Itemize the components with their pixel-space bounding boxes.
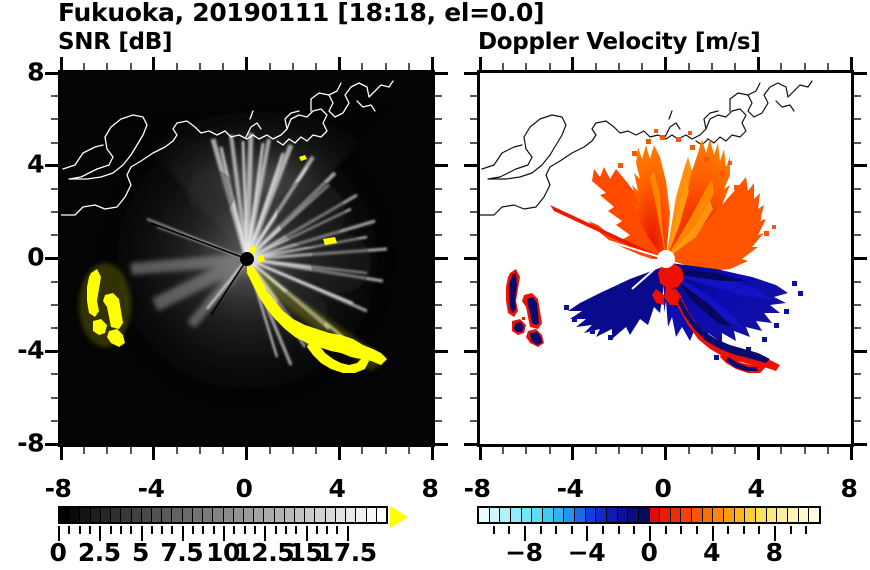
colorbar-minor-tick bbox=[213, 526, 215, 534]
colorbar-swatch bbox=[692, 508, 703, 522]
colorbar-minor-tick bbox=[618, 526, 620, 534]
minor-tick bbox=[106, 447, 108, 454]
colorbar-swatch bbox=[356, 508, 366, 522]
radar-figure: Fukuoka, 20190111 [18:18, el=0.0] SNR [d… bbox=[0, 0, 870, 570]
colorbar-minor-tick bbox=[696, 526, 698, 534]
minor-tick bbox=[435, 304, 442, 306]
doppler-x-tick-top bbox=[664, 57, 667, 70]
doppler-x-label: 0 bbox=[655, 474, 672, 503]
colorbar-tick-label: 0 bbox=[50, 538, 67, 567]
snr-x-tick-top bbox=[431, 57, 434, 70]
snr-y-tick-right bbox=[435, 443, 448, 446]
colorbar-minor-tick bbox=[805, 526, 807, 534]
minor-tick bbox=[435, 188, 442, 190]
colorbar-tick-label: 5 bbox=[132, 538, 149, 567]
snr-panel-title: SNR [dB] bbox=[58, 29, 172, 55]
doppler-plot-canvas bbox=[480, 73, 851, 444]
minor-tick bbox=[385, 63, 387, 70]
doppler-y-tick-right bbox=[854, 72, 867, 75]
snr-x-tick-top bbox=[60, 57, 63, 70]
colorbar-swatch bbox=[377, 508, 386, 522]
snr-colorbar[interactable] bbox=[58, 506, 388, 524]
minor-tick bbox=[470, 211, 477, 213]
minor-tick bbox=[51, 420, 58, 422]
minor-tick bbox=[470, 142, 477, 144]
minor-tick bbox=[804, 447, 806, 454]
snr-y-tick-right bbox=[435, 257, 448, 260]
minor-tick bbox=[435, 281, 442, 283]
colorbar-tick-label: −4 bbox=[568, 538, 605, 567]
minor-tick bbox=[106, 63, 108, 70]
colorbar-swatch bbox=[275, 508, 285, 522]
colorbar-swatch bbox=[618, 508, 629, 522]
minor-tick bbox=[618, 63, 620, 70]
minor-tick bbox=[780, 447, 782, 454]
minor-tick bbox=[854, 397, 861, 399]
snr-y-tick-major bbox=[45, 72, 58, 75]
figure-title: Fukuoka, 20190111 [18:18, el=0.0] bbox=[58, 0, 544, 27]
colorbar-swatch bbox=[367, 508, 377, 522]
colorbar-tick-label: 17.5 bbox=[317, 538, 377, 567]
colorbar-minor-tick bbox=[508, 526, 510, 534]
colorbar-swatch bbox=[91, 508, 101, 522]
colorbar-minor-tick bbox=[120, 526, 122, 534]
doppler-x-tick-major bbox=[850, 447, 853, 460]
snr-y-tick-major bbox=[45, 443, 58, 446]
doppler-y-tick-major bbox=[464, 443, 477, 446]
minor-tick bbox=[854, 188, 861, 190]
minor-tick bbox=[854, 327, 861, 329]
minor-tick bbox=[51, 118, 58, 120]
snr-y-tick-right bbox=[435, 164, 448, 167]
colorbar-minor-tick bbox=[110, 526, 112, 534]
colorbar-minor-tick bbox=[161, 526, 163, 534]
colorbar-minor-tick bbox=[743, 526, 745, 534]
colorbar-swatch bbox=[767, 508, 778, 522]
doppler-x-tick-major bbox=[664, 447, 667, 460]
minor-tick bbox=[83, 63, 85, 70]
colorbar-swatch bbox=[788, 508, 799, 522]
minor-tick bbox=[641, 63, 643, 70]
colorbar-minor-tick bbox=[571, 526, 573, 534]
minor-tick bbox=[854, 234, 861, 236]
minor-tick bbox=[734, 447, 736, 454]
minor-tick bbox=[470, 420, 477, 422]
colorbar-swatch bbox=[809, 508, 819, 522]
snr-x-label: -4 bbox=[138, 474, 165, 503]
minor-tick bbox=[51, 327, 58, 329]
doppler-radar-image bbox=[480, 73, 851, 444]
doppler-y-tick-right bbox=[854, 443, 867, 446]
colorbar-swatch bbox=[703, 508, 714, 522]
colorbar-minor-tick bbox=[336, 526, 338, 534]
minor-tick bbox=[385, 447, 387, 454]
minor-tick bbox=[470, 118, 477, 120]
colorbar-swatch bbox=[479, 508, 490, 522]
doppler-y-tick-major bbox=[464, 72, 477, 75]
snr-colorbar-over-arrow bbox=[390, 506, 408, 528]
snr-x-tick-major bbox=[338, 447, 341, 460]
minor-tick bbox=[688, 447, 690, 454]
colorbar-swatch bbox=[745, 508, 756, 522]
colorbar-swatch bbox=[172, 508, 182, 522]
colorbar-swatch bbox=[213, 508, 223, 522]
colorbar-swatch bbox=[511, 508, 522, 522]
colorbar-swatch bbox=[596, 508, 607, 522]
minor-tick bbox=[292, 63, 294, 70]
minor-tick bbox=[435, 327, 442, 329]
doppler-x-label: -4 bbox=[557, 474, 584, 503]
minor-tick bbox=[734, 63, 736, 70]
doppler-y-tick-right bbox=[854, 257, 867, 260]
minor-tick bbox=[176, 63, 178, 70]
snr-x-tick-major bbox=[60, 447, 63, 460]
minor-tick bbox=[199, 447, 201, 454]
colorbar-swatch bbox=[315, 508, 325, 522]
minor-tick bbox=[470, 188, 477, 190]
minor-tick bbox=[688, 63, 690, 70]
minor-tick bbox=[470, 281, 477, 283]
minor-tick bbox=[435, 211, 442, 213]
colorbar-minor-tick bbox=[275, 526, 277, 534]
minor-tick bbox=[470, 327, 477, 329]
colorbar-minor-tick bbox=[680, 526, 682, 534]
minor-tick bbox=[361, 63, 363, 70]
colorbar-tick-label: 7.5 bbox=[160, 538, 203, 567]
doppler-colorbar[interactable] bbox=[477, 506, 821, 524]
snr-x-tick-top bbox=[338, 57, 341, 70]
colorbar-minor-tick bbox=[493, 526, 495, 534]
doppler-colorbar-under-arrow bbox=[459, 506, 477, 528]
colorbar-minor-tick bbox=[602, 526, 604, 534]
colorbar-swatch bbox=[132, 508, 142, 522]
minor-tick bbox=[804, 63, 806, 70]
snr-y-label: 0 bbox=[8, 243, 44, 272]
minor-tick bbox=[361, 447, 363, 454]
snr-x-label: -8 bbox=[45, 474, 72, 503]
colorbar-swatch bbox=[532, 508, 543, 522]
colorbar-minor-tick bbox=[171, 526, 173, 534]
minor-tick bbox=[780, 63, 782, 70]
snr-y-label: -8 bbox=[0, 429, 44, 458]
minor-tick bbox=[854, 281, 861, 283]
snr-y-label: 4 bbox=[8, 150, 44, 179]
snr-x-tick-major bbox=[245, 447, 248, 460]
colorbar-swatch bbox=[799, 508, 810, 522]
colorbar-swatch bbox=[203, 508, 213, 522]
minor-tick bbox=[222, 447, 224, 454]
colorbar-swatch bbox=[142, 508, 152, 522]
minor-tick bbox=[130, 63, 132, 70]
colorbar-tick-label: 0 bbox=[641, 538, 658, 567]
minor-tick bbox=[51, 397, 58, 399]
minor-tick bbox=[51, 234, 58, 236]
colorbar-swatch bbox=[326, 508, 336, 522]
colorbar-minor-tick bbox=[68, 526, 70, 534]
colorbar-swatch bbox=[628, 508, 639, 522]
colorbar-swatch bbox=[111, 508, 121, 522]
colorbar-swatch bbox=[607, 508, 618, 522]
colorbar-swatch bbox=[564, 508, 575, 522]
minor-tick bbox=[435, 420, 442, 422]
colorbar-swatch bbox=[162, 508, 172, 522]
colorbar-minor-tick bbox=[326, 526, 328, 534]
snr-x-tick-top bbox=[245, 57, 248, 70]
colorbar-swatch bbox=[121, 508, 131, 522]
colorbar-swatch bbox=[660, 508, 671, 522]
minor-tick bbox=[51, 281, 58, 283]
doppler-x-label: 8 bbox=[841, 474, 858, 503]
colorbar-tick-label: 12.5 bbox=[234, 538, 294, 567]
minor-tick bbox=[470, 397, 477, 399]
minor-tick bbox=[176, 447, 178, 454]
colorbar-swatch bbox=[735, 508, 746, 522]
colorbar-minor-tick bbox=[295, 526, 297, 534]
minor-tick bbox=[130, 447, 132, 454]
minor-tick bbox=[595, 63, 597, 70]
colorbar-minor-tick bbox=[790, 526, 792, 534]
minor-tick bbox=[827, 447, 829, 454]
minor-tick bbox=[549, 447, 551, 454]
minor-tick bbox=[502, 63, 504, 70]
colorbar-swatch bbox=[305, 508, 315, 522]
minor-tick bbox=[854, 95, 861, 97]
snr-y-tick-major bbox=[45, 164, 58, 167]
colorbar-swatch bbox=[264, 508, 274, 522]
colorbar-swatch bbox=[713, 508, 724, 522]
minor-tick bbox=[51, 304, 58, 306]
colorbar-minor-tick bbox=[244, 526, 246, 534]
colorbar-minor-tick bbox=[79, 526, 81, 534]
minor-tick bbox=[618, 447, 620, 454]
colorbar-swatch bbox=[244, 508, 254, 522]
colorbar-minor-tick bbox=[665, 526, 667, 534]
minor-tick bbox=[315, 447, 317, 454]
doppler-x-tick-major bbox=[757, 447, 760, 460]
snr-y-label: -4 bbox=[0, 336, 44, 365]
doppler-x-label: 4 bbox=[748, 474, 765, 503]
colorbar-swatch bbox=[724, 508, 735, 522]
colorbar-swatch bbox=[70, 508, 80, 522]
colorbar-swatch bbox=[183, 508, 193, 522]
minor-tick bbox=[525, 447, 527, 454]
colorbar-swatch bbox=[543, 508, 554, 522]
colorbar-tick-label: 8 bbox=[766, 538, 783, 567]
snr-y-tick-right bbox=[435, 72, 448, 75]
colorbar-swatch bbox=[285, 508, 295, 522]
doppler-x-tick-major bbox=[479, 447, 482, 460]
minor-tick bbox=[199, 63, 201, 70]
colorbar-tick-label: −8 bbox=[505, 538, 542, 567]
minor-tick bbox=[470, 304, 477, 306]
minor-tick bbox=[435, 397, 442, 399]
minor-tick bbox=[525, 63, 527, 70]
snr-plot-canvas bbox=[61, 73, 432, 444]
minor-tick bbox=[435, 234, 442, 236]
doppler-y-tick-right bbox=[854, 164, 867, 167]
doppler-x-tick-top bbox=[757, 57, 760, 70]
colorbar-swatch bbox=[777, 508, 788, 522]
minor-tick bbox=[502, 447, 504, 454]
snr-y-label: 8 bbox=[8, 58, 44, 87]
minor-tick bbox=[470, 95, 477, 97]
minor-tick bbox=[549, 63, 551, 70]
colorbar-tick-label: 2.5 bbox=[78, 538, 121, 567]
snr-y-tick-right bbox=[435, 350, 448, 353]
minor-tick bbox=[854, 420, 861, 422]
colorbar-swatch bbox=[101, 508, 111, 522]
colorbar-minor-tick bbox=[540, 526, 542, 534]
colorbar-swatch bbox=[152, 508, 162, 522]
colorbar-swatch bbox=[193, 508, 203, 522]
colorbar-swatch bbox=[224, 508, 234, 522]
minor-tick bbox=[51, 188, 58, 190]
colorbar-minor-tick bbox=[316, 526, 318, 534]
minor-tick bbox=[827, 63, 829, 70]
doppler-y-tick-right bbox=[854, 350, 867, 353]
snr-x-tick-major bbox=[431, 447, 434, 460]
colorbar-minor-tick bbox=[130, 526, 132, 534]
snr-y-tick-major bbox=[45, 257, 58, 260]
snr-x-label: 0 bbox=[236, 474, 253, 503]
snr-x-tick-major bbox=[152, 447, 155, 460]
colorbar-swatch bbox=[234, 508, 244, 522]
colorbar-swatch bbox=[490, 508, 501, 522]
snr-x-label: 4 bbox=[329, 474, 346, 503]
colorbar-swatch bbox=[254, 508, 264, 522]
minor-tick bbox=[408, 63, 410, 70]
snr-x-tick-top bbox=[152, 57, 155, 70]
colorbar-swatch bbox=[756, 508, 767, 522]
minor-tick bbox=[435, 373, 442, 375]
colorbar-swatch bbox=[586, 508, 597, 522]
colorbar-minor-tick bbox=[89, 526, 91, 534]
colorbar-minor-tick bbox=[151, 526, 153, 534]
colorbar-swatch bbox=[346, 508, 356, 522]
doppler-plot-panel[interactable] bbox=[477, 70, 854, 447]
doppler-y-tick-major bbox=[464, 164, 477, 167]
colorbar-minor-tick bbox=[202, 526, 204, 534]
minor-tick bbox=[711, 447, 713, 454]
colorbar-swatch bbox=[295, 508, 305, 522]
minor-tick bbox=[470, 373, 477, 375]
colorbar-minor-tick bbox=[727, 526, 729, 534]
minor-tick bbox=[408, 447, 410, 454]
snr-y-tick-major bbox=[45, 350, 58, 353]
doppler-y-tick-major bbox=[464, 257, 477, 260]
snr-plot-panel[interactable] bbox=[58, 70, 435, 447]
colorbar-swatch bbox=[554, 508, 565, 522]
colorbar-swatch bbox=[522, 508, 533, 522]
colorbar-swatch bbox=[671, 508, 682, 522]
doppler-x-tick-top bbox=[571, 57, 574, 70]
colorbar-swatch bbox=[500, 508, 511, 522]
minor-tick bbox=[51, 211, 58, 213]
minor-tick bbox=[83, 447, 85, 454]
minor-tick bbox=[269, 63, 271, 70]
minor-tick bbox=[854, 118, 861, 120]
doppler-y-tick-major bbox=[464, 350, 477, 353]
doppler-x-tick-top bbox=[479, 57, 482, 70]
minor-tick bbox=[435, 142, 442, 144]
doppler-x-tick-top bbox=[850, 57, 853, 70]
doppler-panel-title: Doppler Velocity [m/s] bbox=[478, 29, 760, 55]
doppler-x-label: -8 bbox=[464, 474, 491, 503]
minor-tick bbox=[854, 142, 861, 144]
minor-tick bbox=[435, 118, 442, 120]
doppler-x-tick-major bbox=[571, 447, 574, 460]
minor-tick bbox=[641, 447, 643, 454]
minor-tick bbox=[51, 95, 58, 97]
colorbar-minor-tick bbox=[254, 526, 256, 534]
snr-x-label: 8 bbox=[422, 474, 439, 503]
minor-tick bbox=[470, 234, 477, 236]
minor-tick bbox=[595, 447, 597, 454]
minor-tick bbox=[435, 95, 442, 97]
colorbar-minor-tick bbox=[555, 526, 557, 534]
colorbar-minor-tick bbox=[233, 526, 235, 534]
minor-tick bbox=[269, 447, 271, 454]
minor-tick bbox=[51, 373, 58, 375]
snr-radar-image bbox=[61, 73, 432, 444]
minor-tick bbox=[315, 63, 317, 70]
minor-tick bbox=[292, 447, 294, 454]
colorbar-tick-label: 4 bbox=[703, 538, 720, 567]
colorbar-swatch bbox=[681, 508, 692, 522]
minor-tick bbox=[51, 142, 58, 144]
colorbar-swatch bbox=[650, 508, 661, 522]
colorbar-minor-tick bbox=[285, 526, 287, 534]
minor-tick bbox=[854, 304, 861, 306]
minor-tick bbox=[711, 63, 713, 70]
colorbar-minor-tick bbox=[633, 526, 635, 534]
colorbar-swatch bbox=[80, 508, 90, 522]
minor-tick bbox=[222, 63, 224, 70]
doppler-colorbar-over-arrow bbox=[823, 506, 841, 528]
colorbar-swatch bbox=[575, 508, 586, 522]
colorbar-swatch bbox=[336, 508, 346, 522]
minor-tick bbox=[854, 211, 861, 213]
minor-tick bbox=[854, 373, 861, 375]
colorbar-swatch bbox=[60, 508, 70, 522]
colorbar-minor-tick bbox=[192, 526, 194, 534]
colorbar-minor-tick bbox=[758, 526, 760, 534]
colorbar-swatch bbox=[639, 508, 650, 522]
